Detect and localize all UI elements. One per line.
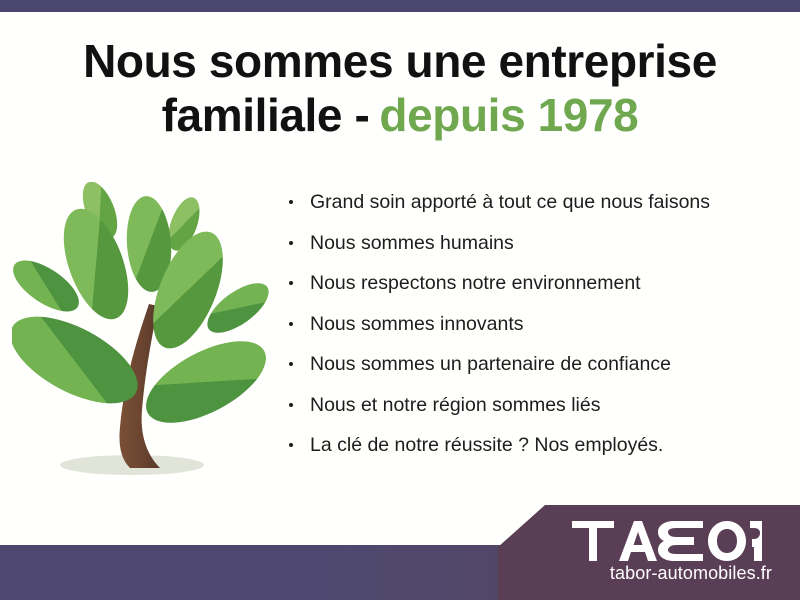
page-title: Nous sommes une entreprise familiale -de… (0, 34, 800, 143)
list-item-label: La clé de notre réussite ? Nos employés. (310, 434, 663, 456)
bullet-dot-icon (289, 322, 293, 326)
list-item: Nous et notre région sommes liés (286, 393, 756, 417)
list-item-label: Nous sommes humains (310, 232, 514, 254)
list-item-label: Nous sommes un partenaire de confiance (310, 353, 671, 375)
top-accent-band (0, 0, 800, 12)
list-item: Nous sommes humains (286, 231, 756, 255)
bullet-dot-icon (289, 443, 293, 447)
brand-logo[interactable]: tabor-automobiles.fr (498, 505, 800, 600)
bullet-dot-icon (289, 241, 293, 245)
title-line-2-accent: depuis 1978 (379, 89, 638, 141)
list-item-label: Nous sommes innovants (310, 313, 524, 335)
list-item-label: Grand soin apporté à tout ce que nous fa… (310, 191, 710, 213)
bullet-dot-icon (289, 281, 293, 285)
bullet-dot-icon (289, 200, 293, 204)
title-line-1: Nous sommes une entreprise (0, 34, 800, 88)
tree-illustration (12, 182, 270, 490)
slide-canvas: Nous sommes une entreprise familiale -de… (0, 0, 800, 600)
value-bullet-list: Grand soin apporté à tout ce que nous fa… (286, 190, 756, 474)
bullet-dot-icon (289, 362, 293, 366)
list-item: Grand soin apporté à tout ce que nous fa… (286, 190, 756, 214)
logo-website-url[interactable]: tabor-automobiles.fr (498, 563, 800, 584)
list-item: La clé de notre réussite ? Nos employés. (286, 433, 756, 457)
title-line-2-black: familiale - (162, 89, 370, 141)
list-item-label: Nous et notre région sommes liés (310, 394, 600, 416)
bullet-dot-icon (289, 403, 293, 407)
list-item-label: Nous respectons notre environnement (310, 272, 641, 294)
tabor-wordmark (572, 521, 762, 561)
list-item: Nous sommes innovants (286, 312, 756, 336)
list-item: Nous sommes un partenaire de confiance (286, 352, 756, 376)
title-line-2: familiale -depuis 1978 (0, 88, 800, 142)
list-item: Nous respectons notre environnement (286, 271, 756, 295)
tree-leaf-lower-right (134, 325, 270, 440)
